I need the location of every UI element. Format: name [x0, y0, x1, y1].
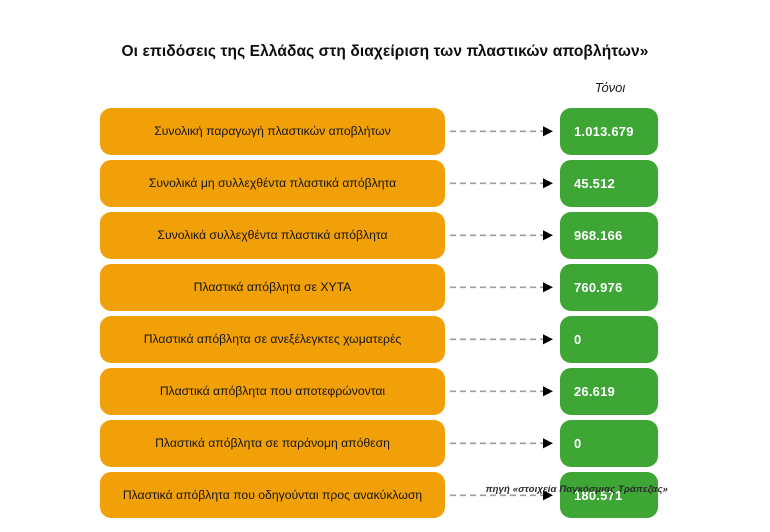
category-label: Πλαστικά απόβλητα σε ανεξέλεγκτες χωματε… [144, 332, 402, 347]
table-row: Πλαστικά απόβλητα που οδηγούνται προς αν… [0, 472, 770, 519]
category-box[interactable]: Πλαστικά απόβλητα που αποτεφρώνονται [100, 368, 445, 415]
value-box[interactable]: 968.166 [560, 212, 658, 259]
category-label: Συνολική παραγωγή πλαστικών αποβλήτων [154, 124, 391, 139]
arrow-connector-icon [450, 264, 558, 311]
value-label: 0 [574, 332, 581, 347]
category-label: Πλαστικά απόβλητα σε παράνομη απόθεση [155, 436, 390, 451]
page-title: Οι επιδόσεις της Ελλάδας στη διαχείριση … [0, 42, 770, 62]
table-row: Συνολικά συλλεχθέντα πλαστικά απόβλητα 9… [0, 212, 770, 259]
value-box[interactable]: 1.013.679 [560, 108, 658, 155]
value-box[interactable]: 180.571 [560, 472, 658, 519]
category-box[interactable]: Πλαστικά απόβλητα σε ανεξέλεγκτες χωματε… [100, 316, 445, 363]
category-label: Συνολικά συλλεχθέντα πλαστικά απόβλητα [157, 228, 387, 243]
category-label: Πλαστικά απόβλητα σε ΧΥΤΑ [194, 280, 352, 295]
table-row: Πλαστικά απόβλητα σε παράνομη απόθεση 0 [0, 420, 770, 467]
category-box[interactable]: Πλαστικά απόβλητα σε παράνομη απόθεση [100, 420, 445, 467]
value-label: 0 [574, 436, 581, 451]
value-label: 45.512 [574, 176, 615, 191]
value-box[interactable]: 26.619 [560, 368, 658, 415]
infographic-canvas: Οι επιδόσεις της Ελλάδας στη διαχείριση … [0, 0, 770, 532]
value-label: 760.976 [574, 280, 622, 295]
value-box[interactable]: 45.512 [560, 160, 658, 207]
table-row: Συνολικά μη συλλεχθέντα πλαστικά απόβλητ… [0, 160, 770, 207]
arrow-connector-icon [450, 212, 558, 259]
table-row: Συνολική παραγωγή πλαστικών αποβλήτων 1.… [0, 108, 770, 155]
arrow-connector-icon [450, 160, 558, 207]
category-box[interactable]: Συνολικά συλλεχθέντα πλαστικά απόβλητα [100, 212, 445, 259]
table-row: Πλαστικά απόβλητα που αποτεφρώνονται 26.… [0, 368, 770, 415]
arrow-connector-icon [450, 108, 558, 155]
category-box[interactable]: Πλαστικά απόβλητα σε ΧΥΤΑ [100, 264, 445, 311]
value-box[interactable]: 760.976 [560, 264, 658, 311]
value-label: 26.619 [574, 384, 615, 399]
rows-container: Συνολική παραγωγή πλαστικών αποβλήτων 1.… [0, 108, 770, 524]
value-label: 968.166 [574, 228, 622, 243]
table-row: Πλαστικά απόβλητα σε ΧΥΤΑ 760.976 [0, 264, 770, 311]
category-box[interactable]: Πλαστικά απόβλητα που οδηγούνται προς αν… [100, 472, 445, 519]
arrow-connector-icon [450, 368, 558, 415]
arrow-connector-icon [450, 472, 558, 519]
value-box[interactable]: 0 [560, 316, 658, 363]
category-label: Συνολικά μη συλλεχθέντα πλαστικά απόβλητ… [149, 176, 396, 191]
source-note: πηγή «στοιχεία Παγκόσμιας Τράπεζας» [0, 484, 760, 495]
category-box[interactable]: Συνολική παραγωγή πλαστικών αποβλήτων [100, 108, 445, 155]
arrow-connector-icon [450, 316, 558, 363]
units-label: Τόνοι [560, 80, 660, 95]
table-row: Πλαστικά απόβλητα σε ανεξέλεγκτες χωματε… [0, 316, 770, 363]
arrow-connector-icon [450, 420, 558, 467]
value-label: 1.013.679 [574, 124, 634, 139]
category-label: Πλαστικά απόβλητα που αποτεφρώνονται [160, 384, 385, 399]
value-box[interactable]: 0 [560, 420, 658, 467]
category-box[interactable]: Συνολικά μη συλλεχθέντα πλαστικά απόβλητ… [100, 160, 445, 207]
